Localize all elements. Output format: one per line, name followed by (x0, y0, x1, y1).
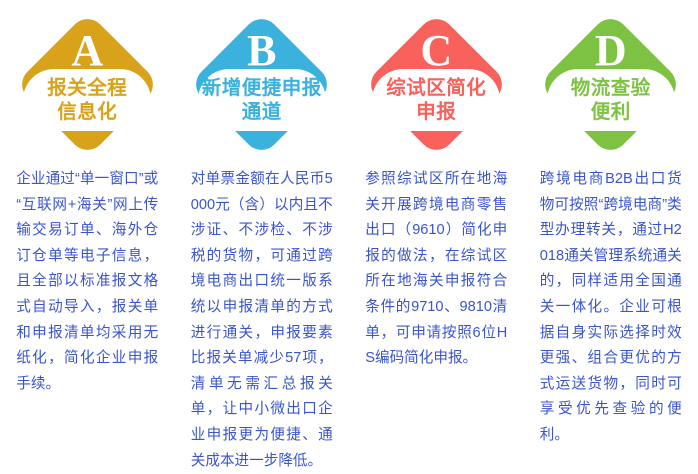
column-a: A 报关全程 信息化 企业通过“单一窗口”或“互联网+海关”网上传输交易订单、海… (0, 0, 175, 465)
column-c: C 综试区简化 申报 参照综试区所在地海关开展跨境电商零售出口（9610）简化申… (349, 0, 524, 465)
badge-label-b: 新增便捷申报 通道 (185, 69, 339, 131)
badge-b: B 新增便捷申报 通道 (189, 11, 335, 157)
badge-label-line-1: 物流查验 (571, 76, 651, 100)
badge-label-c: 综试区简化 申报 (359, 69, 513, 131)
badge-d: D 物流查验 便利 (538, 11, 684, 157)
badge-label-line-2: 通道 (242, 100, 282, 124)
badge-a: A 报关全程 信息化 (14, 11, 160, 157)
badge-c: C 综试区简化 申报 (363, 11, 509, 157)
column-b: B 新增便捷申报 通道 对单票金额在人民币5000元（含）以内且不涉证、不涉检、… (175, 0, 350, 465)
badge-label-a: 报关全程 信息化 (10, 69, 164, 131)
body-text-c: 参照综试区所在地海关开展跨境电商零售出口（9610）简化申报的做法，在综试区所在… (365, 167, 507, 372)
badge-label-line-2: 便利 (591, 100, 631, 124)
badge-label-line-1: 报关全程 (47, 76, 127, 100)
badge-letter-a: A (14, 28, 160, 74)
badge-letter-b: B (189, 28, 335, 74)
badge-label-line-2: 信息化 (57, 100, 117, 124)
column-d: D 物流查验 便利 跨境电商B2B出口货物可按照“跨境电商”类型办理转关，通过H… (524, 0, 698, 465)
badge-label-d: 物流查验 便利 (534, 69, 688, 131)
badge-label-line-1: 综试区简化 (386, 76, 486, 100)
infographic-board: A 报关全程 信息化 企业通过“单一窗口”或“互联网+海关”网上传输交易订单、海… (0, 0, 698, 465)
body-text-a: 企业通过“单一窗口”或“互联网+海关”网上传输交易订单、海外仓订仓单等电子信息，… (16, 167, 158, 397)
body-text-b: 对单票金额在人民币5000元（含）以内且不涉证、不涉检、不涉税的货物，可通过跨境… (191, 167, 333, 474)
body-text-d: 跨境电商B2B出口货物可按照“跨境电商”类型办理转关，通过H2018通关管理系统… (540, 167, 682, 449)
badge-label-line-1: 新增便捷申报 (202, 76, 322, 100)
badge-letter-c: C (363, 28, 509, 74)
badge-letter-d: D (538, 28, 684, 74)
badge-label-line-2: 申报 (416, 100, 456, 124)
